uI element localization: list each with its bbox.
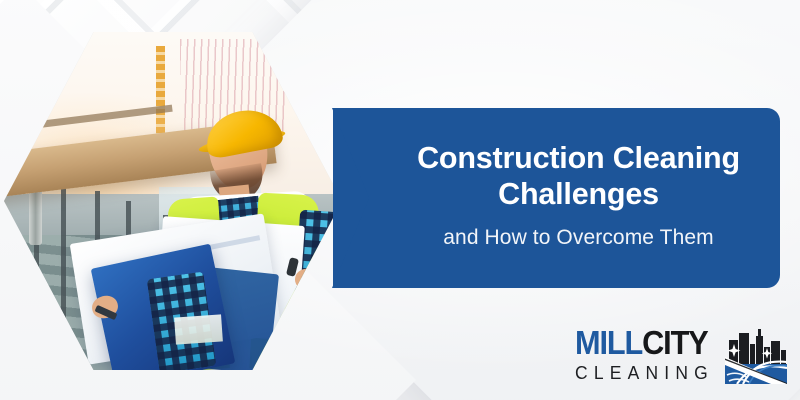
logo-wordmark: MILLCITY CLEANING xyxy=(575,326,723,382)
logo-name-line: MILLCITY xyxy=(575,326,713,359)
logo-word-city: CITY xyxy=(642,324,707,361)
logo-word-mill: MILL xyxy=(575,324,642,361)
callout-text-group: Construction Cleaning Challenges and How… xyxy=(333,108,780,288)
page-subtitle: and How to Overcome Them xyxy=(443,225,713,250)
page-title: Construction Cleaning Challenges xyxy=(417,141,740,213)
mill-city-cleaning-logo[interactable]: MILLCITY CLEANING xyxy=(575,326,787,392)
photo-vest-reflective-band xyxy=(174,314,223,344)
city-skyline-bridge-icon xyxy=(725,324,787,384)
promotional-banner: Construction Cleaning Challenges and How… xyxy=(0,0,800,400)
logo-tagline: CLEANING xyxy=(575,364,719,382)
headline-callout-panel: Construction Cleaning Challenges and How… xyxy=(333,108,780,288)
